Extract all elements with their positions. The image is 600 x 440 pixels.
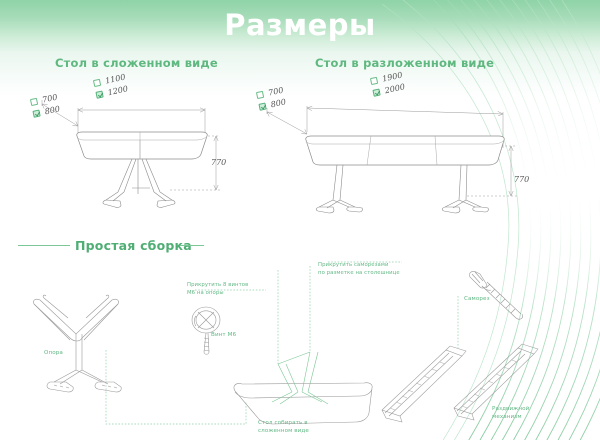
assembly-rule-left — [18, 245, 70, 246]
assembly-section-title: Простая сборка — [75, 238, 192, 253]
unfolded-table-drawing — [245, 60, 535, 215]
page-title: Размеры — [0, 6, 600, 44]
folded-table-drawing — [20, 60, 270, 210]
infographic-page: Размеры — [0, 0, 600, 440]
assembly-rule-right — [180, 245, 204, 246]
assembly-drawings — [10, 252, 590, 440]
